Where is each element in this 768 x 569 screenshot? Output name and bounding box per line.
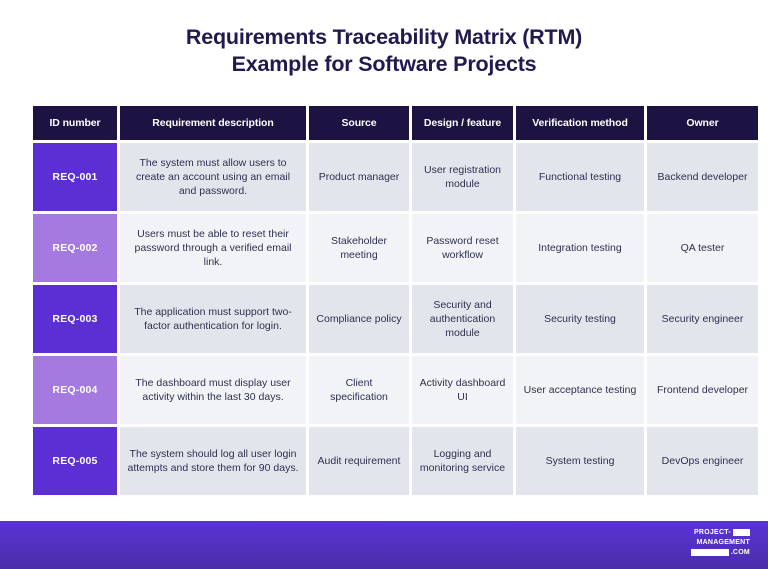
cell-source: Client specification bbox=[309, 356, 409, 424]
table-row: REQ-002 Users must be able to reset thei… bbox=[33, 214, 758, 282]
cell-verification-method: Security testing bbox=[516, 285, 644, 353]
logo-bar-icon bbox=[733, 529, 750, 536]
cell-verification-method: System testing bbox=[516, 427, 644, 495]
logo-row-1: PROJECT- bbox=[674, 528, 750, 537]
logo-row-2: MANAGEMENT bbox=[674, 538, 750, 547]
cell-owner: DevOps engineer bbox=[647, 427, 758, 495]
cell-design-feature: Password reset workflow bbox=[412, 214, 513, 282]
cell-verification-method: Integration testing bbox=[516, 214, 644, 282]
cell-requirement-description: The application must support two-factor … bbox=[120, 285, 306, 353]
cell-design-feature: Activity dashboard UI bbox=[412, 356, 513, 424]
cell-requirement-description: The system should log all user login att… bbox=[120, 427, 306, 495]
page-title: Requirements Traceability Matrix (RTM) E… bbox=[0, 24, 768, 78]
logo-text-line-1: PROJECT- bbox=[694, 528, 731, 537]
cell-owner: QA tester bbox=[647, 214, 758, 282]
cell-requirement-description: Users must be able to reset their passwo… bbox=[120, 214, 306, 282]
table-body: REQ-001 The system must allow users to c… bbox=[33, 143, 758, 495]
cell-requirement-description: The system must allow users to create an… bbox=[120, 143, 306, 211]
logo-text-line-2: MANAGEMENT bbox=[697, 538, 750, 547]
cell-id-number: REQ-001 bbox=[33, 143, 117, 211]
table-row: REQ-001 The system must allow users to c… bbox=[33, 143, 758, 211]
project-management-logo: PROJECT- MANAGEMENT .COM bbox=[674, 528, 750, 558]
table-header: ID number Requirement description Source… bbox=[33, 106, 758, 140]
cell-design-feature: Security and authentication module bbox=[412, 285, 513, 353]
cell-source: Product manager bbox=[309, 143, 409, 211]
page-title-line-2: Example for Software Projects bbox=[0, 51, 768, 78]
cell-source: Audit requirement bbox=[309, 427, 409, 495]
column-header-design-feature: Design / feature bbox=[412, 106, 513, 140]
logo-row-3: .COM bbox=[674, 548, 750, 557]
column-header-owner: Owner bbox=[647, 106, 758, 140]
cell-owner: Backend developer bbox=[647, 143, 758, 211]
rtm-infographic-page: Requirements Traceability Matrix (RTM) E… bbox=[0, 0, 768, 569]
cell-id-number: REQ-002 bbox=[33, 214, 117, 282]
cell-design-feature: User registration module bbox=[412, 143, 513, 211]
cell-source: Stakeholder meeting bbox=[309, 214, 409, 282]
table-row: REQ-005 The system should log all user l… bbox=[33, 427, 758, 495]
table-header-row: ID number Requirement description Source… bbox=[33, 106, 758, 140]
cell-requirement-description: The dashboard must display user activity… bbox=[120, 356, 306, 424]
cell-id-number: REQ-004 bbox=[33, 356, 117, 424]
column-header-verification-method: Verification method bbox=[516, 106, 644, 140]
cell-id-number: REQ-003 bbox=[33, 285, 117, 353]
cell-verification-method: User acceptance testing bbox=[516, 356, 644, 424]
cell-source: Compliance policy bbox=[309, 285, 409, 353]
rtm-table: ID number Requirement description Source… bbox=[30, 103, 761, 498]
column-header-source: Source bbox=[309, 106, 409, 140]
cell-id-number: REQ-005 bbox=[33, 427, 117, 495]
logo-text-line-3: .COM bbox=[731, 548, 750, 557]
cell-owner: Security engineer bbox=[647, 285, 758, 353]
table-row: REQ-003 The application must support two… bbox=[33, 285, 758, 353]
cell-verification-method: Functional testing bbox=[516, 143, 644, 211]
logo-bar-icon bbox=[691, 549, 729, 556]
cell-owner: Frontend developer bbox=[647, 356, 758, 424]
column-header-id-number: ID number bbox=[33, 106, 117, 140]
page-title-line-1: Requirements Traceability Matrix (RTM) bbox=[0, 24, 768, 51]
cell-design-feature: Logging and monitoring service bbox=[412, 427, 513, 495]
column-header-requirement-description: Requirement description bbox=[120, 106, 306, 140]
footer-band bbox=[0, 521, 768, 569]
table-row: REQ-004 The dashboard must display user … bbox=[33, 356, 758, 424]
